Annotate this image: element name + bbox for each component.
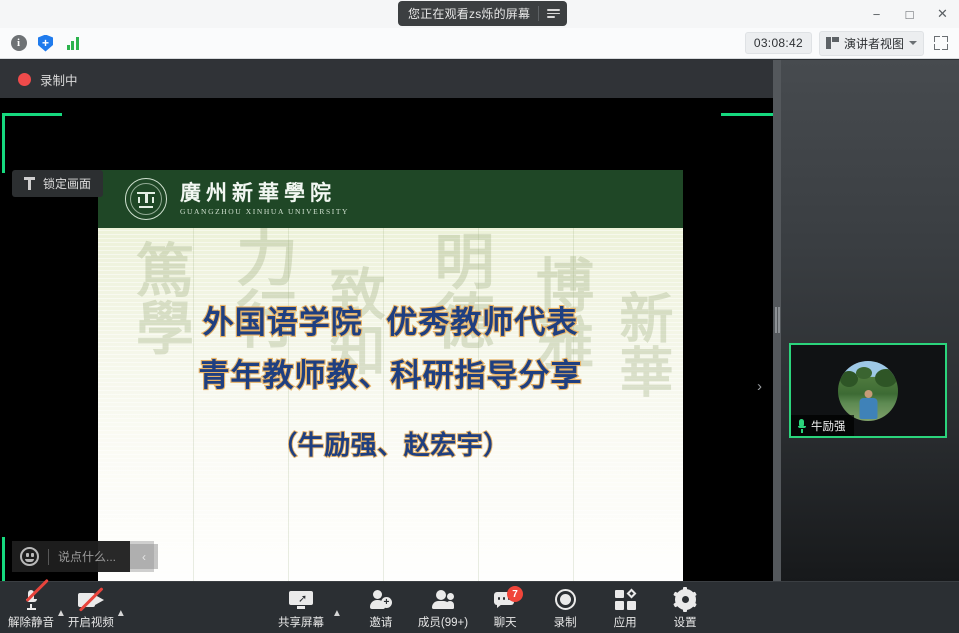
meeting-toolbar: i 03:08:42 演讲者视图	[0, 28, 959, 59]
screen-share-title-pill: 您正在观看zs烁的屏幕	[398, 1, 567, 26]
chevron-down-icon	[909, 41, 917, 45]
unmute-label: 解除静音	[8, 614, 54, 630]
view-mode-selector[interactable]: 演讲者视图	[819, 31, 924, 56]
chat-button[interactable]: 7 聊天	[482, 584, 528, 630]
chat-input-bar[interactable]: 说点什么... ‹	[12, 541, 158, 572]
title-separator	[538, 6, 539, 21]
chat-collapse-button[interactable]: ‹	[130, 544, 158, 569]
start-video-button[interactable]: 开启视频	[68, 584, 114, 630]
people-icon	[432, 588, 454, 611]
title-bar: 您正在观看zs烁的屏幕 − □ ✕	[0, 0, 959, 28]
share-options-chevron-icon[interactable]: ▲	[330, 608, 344, 619]
slide-presenters: （牛励强、赵宏宇）	[271, 433, 510, 460]
university-name-en: GUANGZHOU XINHUA UNIVERSITY	[180, 207, 349, 216]
emoji-icon[interactable]	[20, 547, 39, 566]
participant-name-badge: 牛励强	[791, 415, 854, 436]
participants-label: 成员(99+)	[418, 614, 468, 630]
university-seal-icon	[125, 178, 167, 220]
university-name-block: 廣州新華學院 GUANGZHOU XINHUA UNIVERSITY	[180, 182, 349, 216]
recording-bar: 录制中	[0, 60, 781, 98]
chat-unread-badge: 7	[507, 586, 523, 602]
participant-video-tile[interactable]: 牛励强	[789, 343, 947, 438]
recording-indicator-icon	[18, 73, 31, 86]
invite-button[interactable]: + 邀请	[358, 584, 404, 630]
recording-label: 录制中	[40, 70, 78, 89]
panel-divider-handle[interactable]	[773, 60, 781, 581]
avatar	[838, 361, 898, 421]
expand-panel-chevron-icon[interactable]: ›	[757, 378, 762, 395]
meeting-timer: 03:08:42	[745, 32, 812, 54]
record-label: 录制	[554, 614, 577, 630]
participants-panel	[781, 60, 959, 581]
apps-label: 应用	[614, 614, 637, 630]
slide-title-line-1: 外国语学院 优秀教师代表	[203, 307, 579, 340]
lock-screen-button[interactable]: 锁定画面	[12, 170, 103, 197]
microphone-icon	[797, 419, 806, 433]
toolbar-status-icons: i	[0, 34, 82, 53]
audio-options-chevron-icon[interactable]: ▲	[54, 608, 68, 619]
participant-name: 牛励强	[811, 418, 846, 434]
settings-label: 设置	[674, 614, 697, 630]
bottom-control-bar: 解除静音 ▲ 开启视频 ▲ ➚ 共享屏幕 ▲ +	[0, 581, 959, 633]
record-circle-icon	[555, 588, 576, 611]
meeting-window: 您正在观看zs烁的屏幕 − □ ✕ i 03:08:42 演讲者视图	[0, 0, 959, 633]
record-button[interactable]: 录制	[542, 584, 588, 630]
microphone-muted-icon	[26, 588, 37, 611]
info-icon[interactable]: i	[9, 34, 28, 53]
meeting-stage: 录制中 篤學 力行 致知 明德 博雅 新華	[0, 60, 959, 581]
network-quality-icon[interactable]	[63, 34, 82, 53]
shared-screen-area[interactable]: 录制中 篤學 力行 致知 明德 博雅 新華	[0, 60, 781, 581]
apps-button[interactable]: 应用	[602, 584, 648, 630]
start-video-label: 开启视频	[68, 614, 114, 630]
chat-label: 聊天	[494, 614, 517, 630]
security-shield-icon[interactable]	[36, 34, 55, 53]
chat-input-field[interactable]: 说点什么...	[12, 541, 130, 572]
hamburger-icon[interactable]	[547, 9, 560, 18]
fullscreen-icon[interactable]	[931, 33, 951, 53]
video-options-chevron-icon[interactable]: ▲	[114, 608, 128, 619]
lock-screen-label: 锁定画面	[43, 175, 91, 192]
participants-button[interactable]: 成员(99+)	[418, 584, 468, 630]
slide-body: 外国语学院 优秀教师代表 青年教师教、科研指导分享 （牛励强、赵宏宇）	[98, 228, 683, 582]
camera-muted-icon	[78, 588, 104, 611]
maximize-button[interactable]: □	[893, 0, 926, 28]
share-screen-button[interactable]: ➚ 共享屏幕	[278, 584, 324, 630]
close-button[interactable]: ✕	[926, 0, 959, 28]
presentation-slide: 篤學 力行 致知 明德 博雅 新華 廣州新華學院 GUANGZHOU XINHU…	[98, 170, 683, 610]
speaker-view-icon	[826, 37, 839, 49]
toolbar-right-group: 03:08:42 演讲者视图	[745, 31, 959, 56]
share-screen-label: 共享屏幕	[278, 614, 324, 630]
apps-grid-icon	[615, 588, 636, 611]
window-title: 您正在观看zs烁的屏幕	[408, 5, 530, 22]
add-person-icon: +	[370, 588, 392, 611]
settings-button[interactable]: 设置	[662, 584, 708, 630]
university-name-cn: 廣州新華學院	[180, 182, 349, 203]
av-controls-group: 解除静音 ▲ 开启视频 ▲	[8, 584, 128, 630]
share-screen-icon: ➚	[289, 588, 313, 611]
chat-placeholder: 说点什么...	[58, 548, 130, 565]
unmute-button[interactable]: 解除静音	[8, 584, 54, 630]
main-controls-group: ➚ 共享屏幕 ▲ + 邀请 成员(99+)	[278, 584, 708, 630]
chat-bubble-icon: 7	[494, 588, 516, 611]
window-controls: − □ ✕	[860, 0, 959, 28]
view-mode-label: 演讲者视图	[844, 35, 904, 52]
slide-header: 廣州新華學院 GUANGZHOU XINHUA UNIVERSITY	[98, 170, 683, 228]
minimize-button[interactable]: −	[860, 0, 893, 28]
pin-icon	[24, 177, 35, 190]
invite-label: 邀请	[369, 614, 392, 630]
gear-icon	[675, 588, 696, 611]
slide-title-line-2: 青年教师教、科研指导分享	[199, 360, 583, 393]
